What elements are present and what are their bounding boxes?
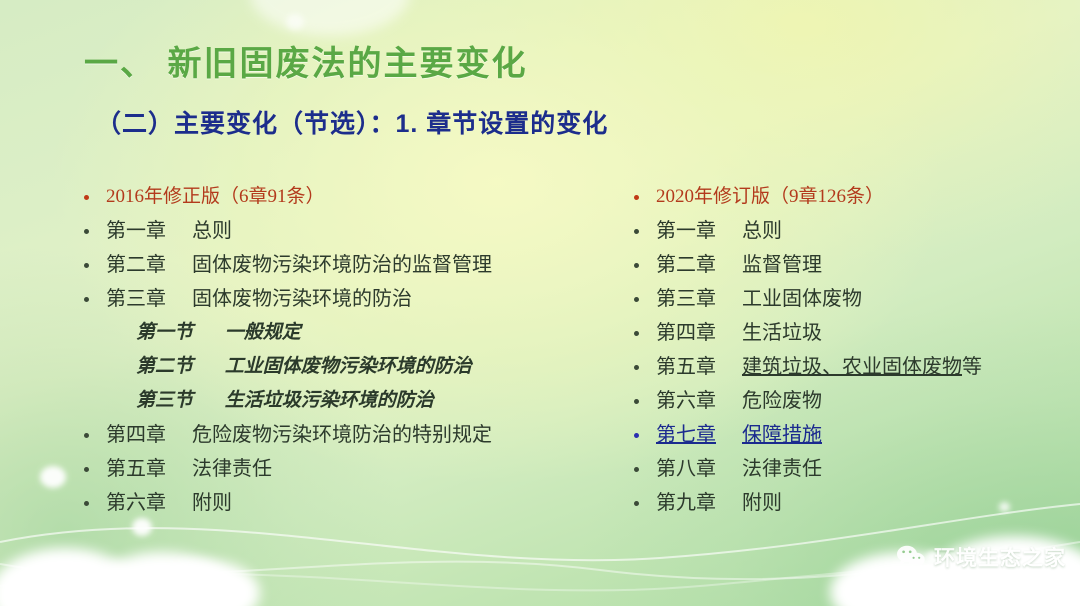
wechat-icon [896, 544, 926, 570]
sub-section-item: 第二节 工业固体废物污染环境的防治 [78, 350, 598, 384]
bullet-icon [634, 501, 639, 506]
bokeh-dot-2 [132, 518, 152, 536]
bullet-icon [84, 297, 89, 302]
cloud-decoration-left-2 [92, 552, 232, 606]
bullet-icon [634, 433, 639, 438]
bullet-icon [634, 229, 639, 234]
page-title: 一、 新旧固废法的主要变化 [84, 36, 527, 85]
list-item-tail: 等 [962, 356, 982, 378]
sub-section-item: 第一节 一般规定 [78, 316, 598, 350]
bullet-icon [634, 297, 639, 302]
bullet-icon [634, 467, 639, 472]
watermark-text: 环境生态之家 [934, 542, 1066, 572]
sub-section-item: 第三节 生活垃圾污染环境的防治 [78, 384, 598, 418]
bullet-icon [84, 501, 89, 506]
list-item: 第六章 危险废物 [628, 384, 1058, 418]
bullet-icon [84, 433, 89, 438]
bokeh-dot-1 [40, 466, 66, 488]
presentation-slide: 一、 新旧固废法的主要变化 （二）主要变化（节选）：1. 章节设置的变化 201… [0, 0, 1080, 606]
bullet-icon [634, 195, 639, 200]
bullet-icon [84, 229, 89, 234]
list-item: 第三章 工业固体废物 [628, 282, 1058, 316]
page-subtitle: （二）主要变化（节选）：1. 章节设置的变化 [96, 104, 608, 140]
right-column: 2020年修订版（9章126条） 第一章 总则 第二章 监督管理 第三章 工业固… [628, 180, 1058, 520]
list-item: 第一章 总则 [78, 214, 598, 248]
list-item: 第一章 总则 [628, 214, 1058, 248]
list-item: 第二章 监督管理 [628, 248, 1058, 282]
left-column-heading: 2016年修正版（6章91条） [78, 180, 598, 214]
list-item-hyperlink-partial[interactable]: 第五章 建筑垃圾、农业固体废物等 [628, 350, 1058, 384]
list-item: 第二章 固体废物污染环境防治的监督管理 [78, 248, 598, 282]
bullet-icon [84, 467, 89, 472]
cloud-decoration-top [250, 0, 410, 36]
list-item: 第四章 危险废物污染环境防治的特别规定 [78, 418, 598, 452]
list-item: 第六章 附则 [78, 486, 598, 520]
hyperlink-text[interactable]: 建筑垃圾、农业固体废物等 [742, 350, 982, 384]
list-item-hyperlink[interactable]: 第七章 保障措施 [628, 418, 1058, 452]
bullet-icon [634, 399, 639, 404]
bullet-icon [634, 331, 639, 336]
bullet-icon [634, 365, 639, 370]
list-item: 第九章 附则 [628, 486, 1058, 520]
bullet-icon [84, 263, 89, 268]
list-item: 第五章 法律责任 [78, 452, 598, 486]
bullet-icon [634, 263, 639, 268]
cloud-decoration-left [0, 548, 140, 606]
bokeh-dot-5 [286, 14, 304, 30]
bullet-icon [84, 195, 89, 200]
list-item: 第三章 固体废物污染环境的防治 [78, 282, 598, 316]
left-column: 2016年修正版（6章91条） 第一章 总则 第二章 固体废物污染环境防治的监督… [78, 180, 598, 520]
list-item: 第四章 生活垃圾 [628, 316, 1058, 350]
watermark: 环境生态之家 [896, 542, 1066, 572]
cloud-decoration-left-3 [150, 560, 260, 606]
right-column-heading: 2020年修订版（9章126条） [628, 180, 1058, 214]
list-item: 第八章 法律责任 [628, 452, 1058, 486]
